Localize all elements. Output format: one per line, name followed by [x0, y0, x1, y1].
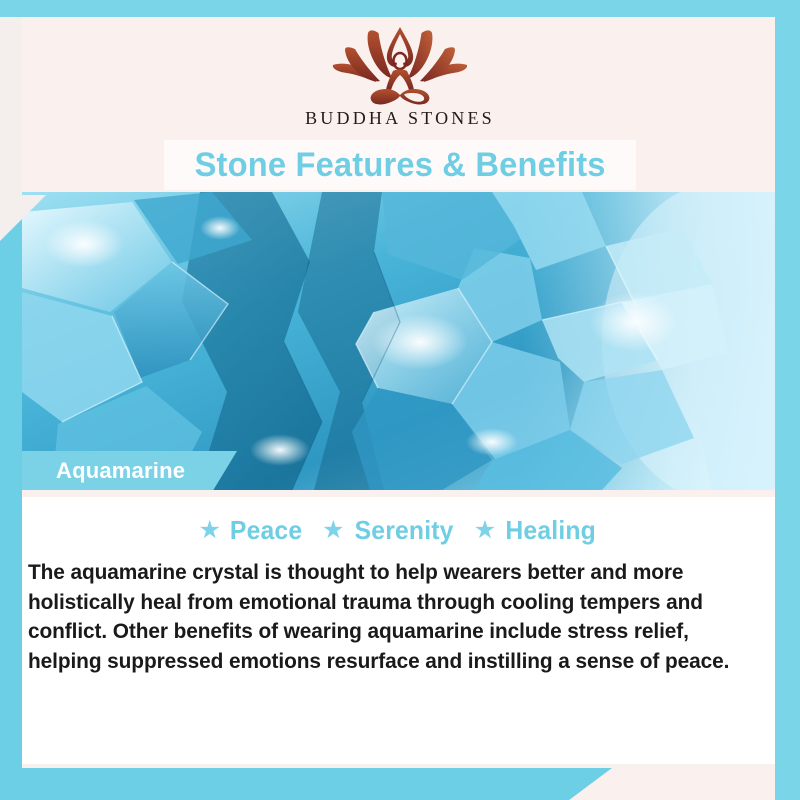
- stone-name-label: Aquamarine: [22, 451, 237, 490]
- page-title: Stone Features & Benefits: [194, 146, 605, 185]
- benefits-row: ★ Peace ★ Serenity ★ Healing: [22, 512, 775, 548]
- title-banner: Stone Features & Benefits: [164, 140, 636, 190]
- aquamarine-crystal-photo: [22, 192, 775, 490]
- benefit-item: ★ Serenity: [322, 515, 456, 546]
- brand-header: BUDDHA STONES: [0, 17, 800, 141]
- star-icon: ★: [199, 518, 221, 543]
- bottom-accent-bar: [0, 768, 612, 800]
- stone-name-text: Aquamarine: [56, 458, 185, 484]
- lotus-meditation-icon: [332, 25, 468, 107]
- star-icon: ★: [322, 518, 344, 543]
- stone-description: The aquamarine crystal is thought to hel…: [28, 558, 739, 676]
- benefit-item: ★ Peace: [199, 515, 305, 546]
- brand-name: BUDDHA STONES: [305, 108, 495, 129]
- left-accent-band: [0, 195, 22, 800]
- benefit-label-peace: Peace: [230, 515, 302, 546]
- infographic-canvas: BUDDHA STONES Stone Features & Benefits: [0, 0, 800, 800]
- benefit-label-serenity: Serenity: [354, 515, 453, 546]
- top-frame-bar: [0, 0, 800, 17]
- benefit-label-healing: Healing: [506, 515, 597, 546]
- right-frame-bar: [775, 0, 800, 800]
- benefit-item: ★ Healing: [474, 515, 599, 546]
- star-icon: ★: [474, 518, 496, 543]
